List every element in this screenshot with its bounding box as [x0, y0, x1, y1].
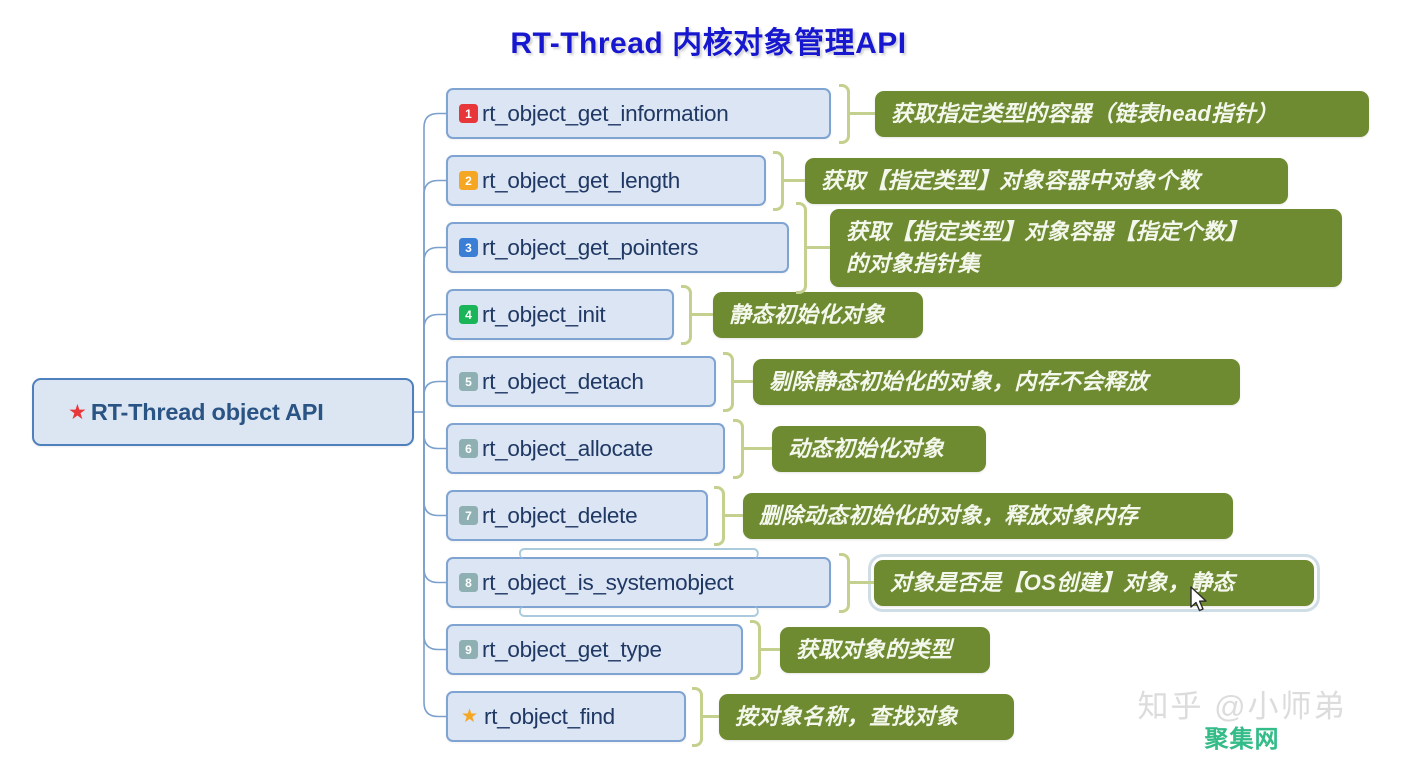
bracket-stub-3 [807, 246, 830, 249]
gold-star-icon: ★ [459, 707, 480, 726]
bracket-connector-4 [681, 285, 692, 345]
api-node-label: rt_object_get_information [482, 101, 728, 127]
bracket-stub-4 [692, 313, 713, 316]
api-node-label: rt_object_init [482, 302, 605, 328]
description-text: 删除动态初始化的对象，释放对象内存 [759, 500, 1138, 532]
description-box-3[interactable]: 获取【指定类型】对象容器【指定个数】 的对象指针集 [830, 209, 1342, 287]
api-node-rt-object-get-length[interactable]: 2rt_object_get_length [446, 155, 766, 206]
bracket-stub-5 [734, 380, 753, 383]
index-badge-7: 7 [459, 506, 478, 525]
bracket-connector-7 [714, 486, 725, 546]
api-node-label: rt_object_is_systemobject [482, 570, 733, 596]
bracket-stub-8 [850, 581, 874, 584]
description-text: 动态初始化对象 [788, 433, 944, 465]
api-node-rt-object-get-pointers[interactable]: 3rt_object_get_pointers [446, 222, 789, 273]
description-box-8[interactable]: 对象是否是【OS创建】对象，静态 [874, 560, 1314, 606]
bracket-connector-10 [692, 687, 703, 747]
index-badge-5: 5 [459, 372, 478, 391]
description-box-10[interactable]: 按对象名称，查找对象 [719, 694, 1014, 740]
api-node-label: rt_object_find [484, 704, 615, 730]
index-badge-4: 4 [459, 305, 478, 324]
description-box-9[interactable]: 获取对象的类型 [780, 627, 990, 673]
description-text: 静态初始化对象 [729, 299, 885, 331]
index-badge-8: 8 [459, 573, 478, 592]
api-node-rt-object-find[interactable]: ★rt_object_find [446, 691, 686, 742]
api-node-label: rt_object_get_length [482, 168, 680, 194]
bracket-stub-9 [761, 648, 780, 651]
bracket-connector-5 [723, 352, 734, 412]
api-node-label: rt_object_delete [482, 503, 637, 529]
description-box-2[interactable]: 获取【指定类型】对象容器中对象个数 [805, 158, 1288, 204]
description-text: 获取对象的类型 [796, 634, 952, 666]
api-node-rt-object-detach[interactable]: 5rt_object_detach [446, 356, 716, 407]
description-box-6[interactable]: 动态初始化对象 [772, 426, 986, 472]
index-badge-9: 9 [459, 640, 478, 659]
index-badge-3: 3 [459, 238, 478, 257]
index-badge-6: 6 [459, 439, 478, 458]
api-node-rt-object-allocate[interactable]: 6rt_object_allocate [446, 423, 725, 474]
description-text: 获取【指定类型】对象容器【指定个数】 的对象指针集 [846, 216, 1247, 280]
api-node-label: rt_object_detach [482, 369, 644, 395]
bracket-connector-8 [839, 553, 850, 613]
api-node-rt-object-get-information[interactable]: 1rt_object_get_information [446, 88, 831, 139]
bracket-connector-9 [750, 620, 761, 680]
description-box-7[interactable]: 删除动态初始化的对象，释放对象内存 [743, 493, 1233, 539]
api-node-rt-object-get-type[interactable]: 9rt_object_get_type [446, 624, 743, 675]
bracket-connector-3 [796, 202, 807, 294]
api-node-rt-object-init[interactable]: 4rt_object_init [446, 289, 674, 340]
index-badge-1: 1 [459, 104, 478, 123]
description-text: 对象是否是【OS创建】对象，静态 [890, 567, 1235, 599]
index-badge-2: 2 [459, 171, 478, 190]
bracket-stub-10 [703, 715, 719, 718]
bracket-stub-6 [744, 447, 772, 450]
bracket-stub-2 [784, 179, 805, 182]
api-node-label: rt_object_get_pointers [482, 235, 698, 261]
description-text: 获取指定类型的容器（链表head指针） [891, 98, 1278, 130]
root-node-label: RT-Thread object API [91, 399, 324, 426]
bracket-stub-7 [725, 514, 743, 517]
bracket-connector-1 [839, 84, 850, 144]
api-node-rt-object-is-systemobject[interactable]: 8rt_object_is_systemobject [446, 557, 831, 608]
description-box-4[interactable]: 静态初始化对象 [713, 292, 923, 338]
description-box-5[interactable]: 剔除静态初始化的对象，内存不会释放 [753, 359, 1240, 405]
bracket-stub-1 [850, 112, 875, 115]
description-box-1[interactable]: 获取指定类型的容器（链表head指针） [875, 91, 1369, 137]
api-node-label: rt_object_allocate [482, 436, 653, 462]
red-star-icon: ★ [68, 402, 87, 423]
root-node[interactable]: ★ RT-Thread object API [32, 378, 414, 446]
description-text: 获取【指定类型】对象容器中对象个数 [821, 165, 1200, 197]
description-text: 按对象名称，查找对象 [735, 701, 958, 733]
mindmap-canvas: ★ RT-Thread object API 1rt_object_get_in… [0, 0, 1417, 773]
api-node-label: rt_object_get_type [482, 637, 662, 663]
description-text: 剔除静态初始化的对象，内存不会释放 [769, 366, 1148, 398]
bracket-connector-2 [773, 151, 784, 211]
bracket-connector-6 [733, 419, 744, 479]
api-node-rt-object-delete[interactable]: 7rt_object_delete [446, 490, 708, 541]
